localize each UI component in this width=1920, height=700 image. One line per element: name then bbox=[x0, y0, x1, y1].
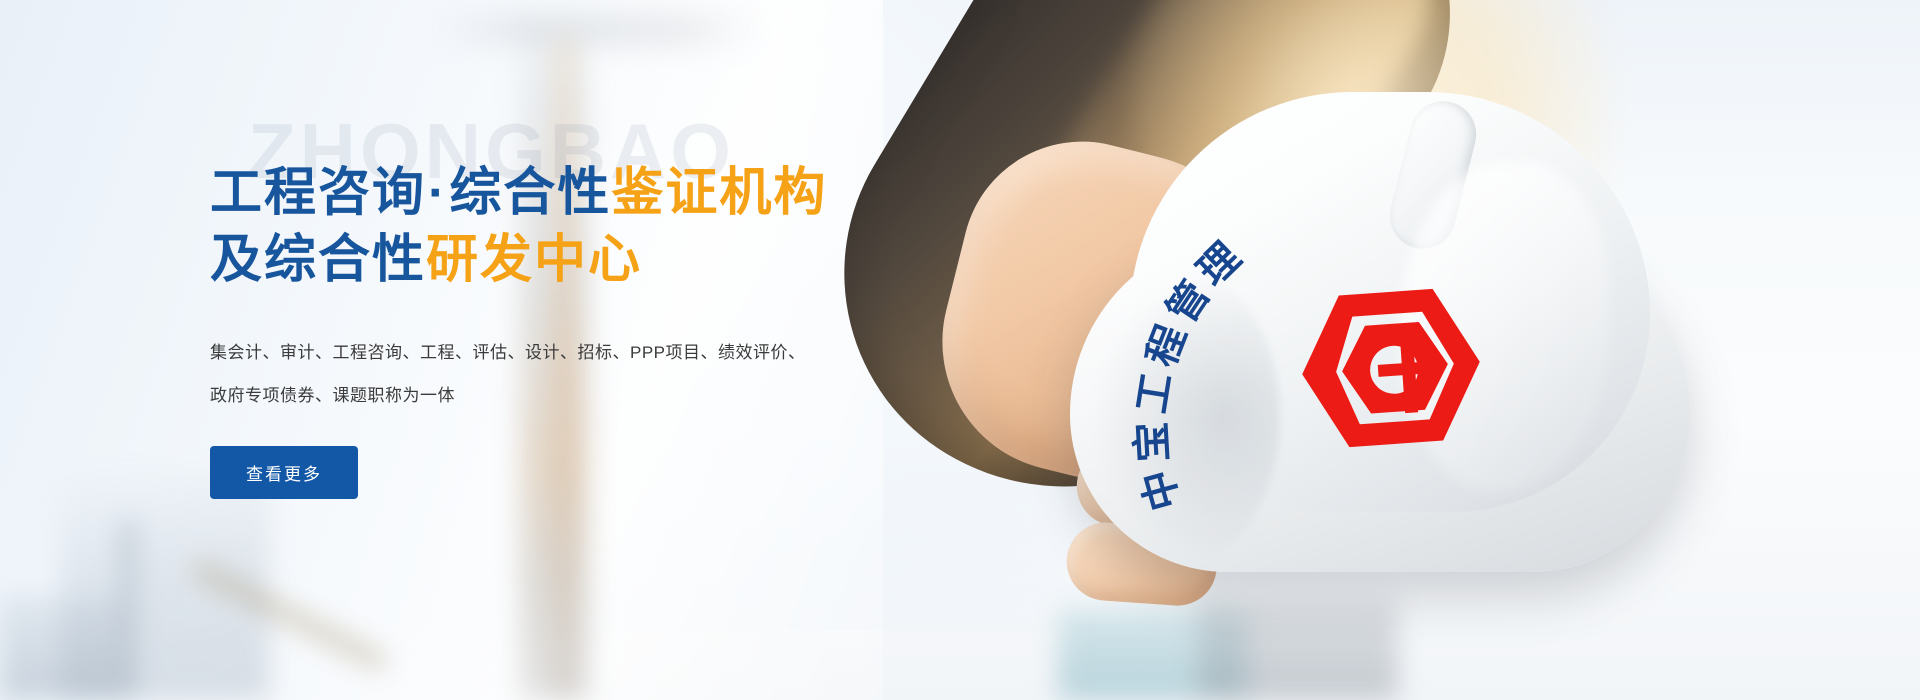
headline-accent-2: 研发中心 bbox=[426, 231, 642, 289]
safety-helmet: 中宝工程管理 bbox=[1070, 92, 1690, 572]
description-line-2: 政府专项债券、课题职称为一体 bbox=[210, 374, 810, 417]
hero-content: ZHONGBAO 工程咨询·综合性鉴证机构 及综合性研发中心 集会计、审计、工程… bbox=[210, 112, 930, 499]
crane-jib-shape bbox=[430, 12, 760, 48]
headline-text-1b: 综合性 bbox=[449, 164, 611, 222]
hero-description: 集会计、审计、工程咨询、工程、评估、设计、招标、PPP项目、绩效评价、 政府专项… bbox=[210, 293, 810, 418]
photo-arm-and-helmet: 中宝工程管理 bbox=[800, 0, 1920, 700]
helmet-brand-text-label: 中宝工程管理 bbox=[1130, 231, 1254, 515]
view-more-button[interactable]: 查看更多 bbox=[210, 446, 358, 499]
scaffold-shape-b bbox=[120, 520, 136, 700]
headline-separator-dot: · bbox=[426, 164, 449, 222]
page-title: 工程咨询·综合性鉴证机构 及综合性研发中心 bbox=[210, 112, 930, 293]
headline-line-1: 工程咨询·综合性鉴证机构 bbox=[210, 164, 827, 222]
headline-line-2: 及综合性研发中心 bbox=[210, 231, 642, 289]
hero-banner: 中宝工程管理 ZHONGBAO 工程咨询·综合性鉴证机构 及综合性研发中心 bbox=[0, 0, 1920, 700]
headline-text-2: 及综合性 bbox=[210, 231, 426, 289]
scaffold-shape-d bbox=[0, 596, 120, 700]
headline-accent-1: 鉴证机构 bbox=[611, 164, 827, 222]
headline-text-1a: 工程咨询 bbox=[210, 164, 426, 222]
zhongbao-hexagon-logo-icon bbox=[1293, 282, 1490, 455]
description-line-1: 集会计、审计、工程咨询、工程、评估、设计、招标、PPP项目、绩效评价、 bbox=[210, 331, 810, 374]
helmet-brand-textpath: 中宝工程管理 bbox=[1130, 231, 1254, 515]
